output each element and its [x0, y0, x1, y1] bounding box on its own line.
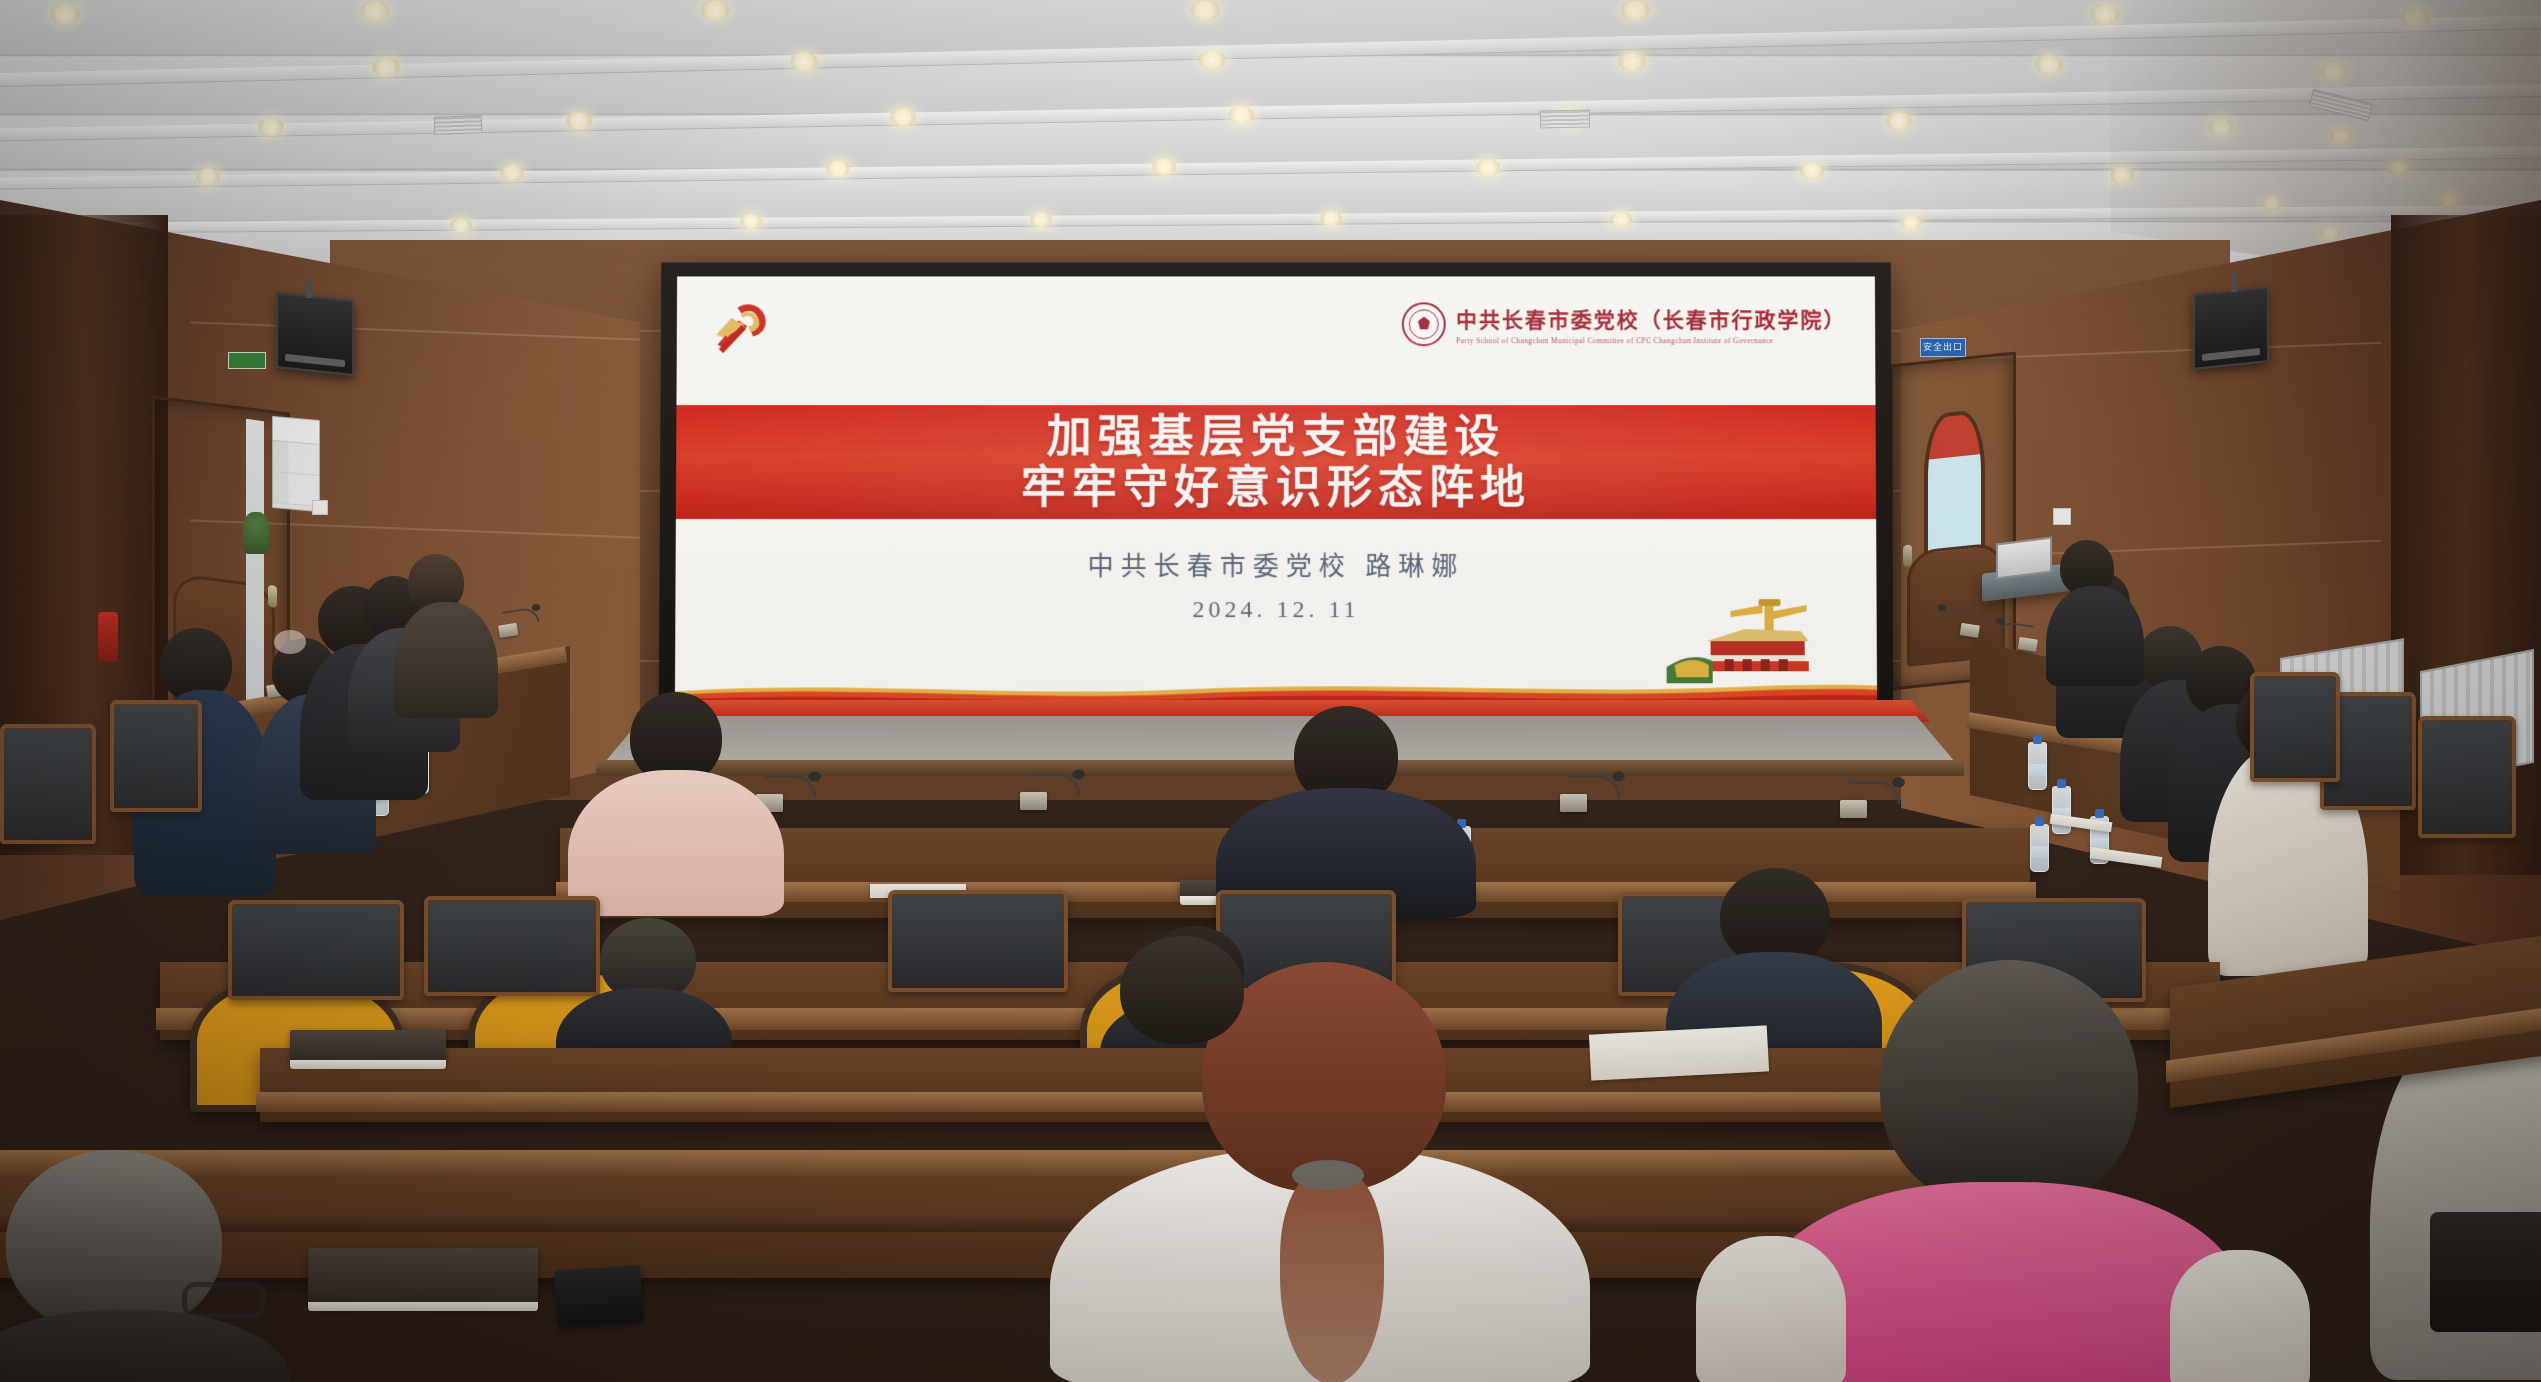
led-screen-frame: 中共长春市委党校（长春市行政学院） Party School of Changc…: [659, 263, 1893, 723]
ceiling-vent-icon: [434, 115, 483, 135]
front-attendee-suit: [1216, 706, 1476, 906]
water-bottle[interactable]: [2052, 786, 2071, 834]
slide-presenter: 中共长春市委党校 路琳娜: [676, 546, 1877, 583]
ceiling-downlight: [1030, 212, 1052, 227]
attendee-sleeve-white: [2170, 1250, 2310, 1382]
wall-switch-icon[interactable]: [312, 500, 328, 515]
presentation-slide: 中共长春市委党校（长春市行政学院） Party School of Changc…: [675, 276, 1877, 714]
ceiling-downlight: [1620, 0, 1650, 20]
slide-body: 中共长春市委党校 路琳娜 2024. 12. 11: [675, 519, 1877, 714]
attendee-head: [1120, 936, 1244, 1044]
ceiling-downlight: [196, 168, 220, 185]
ceiling-downlight: [566, 112, 592, 130]
no-smoking-notice: [272, 416, 320, 512]
slide-title-line-1: 加强基层党支部建设: [1047, 411, 1506, 462]
conference-hall-scene: 安全出口: [0, 0, 2541, 1382]
wall-speaker-right: [2193, 286, 2269, 370]
ceiling-downlight: [1152, 158, 1176, 175]
water-bottle[interactable]: [2030, 824, 2049, 872]
ceiling-downlight: [1900, 215, 1922, 230]
ceiling-downlight: [1886, 112, 1912, 130]
ceiling-downlight: [372, 58, 400, 77]
ceiling-downlight: [1198, 50, 1226, 69]
tiananmen-gate-icon: [1666, 597, 1817, 683]
chair[interactable]: [0, 724, 96, 844]
foreground-attendee-left: [0, 1150, 290, 1382]
institution-name-cn: 中共长春市委党校（长春市行政学院）: [1456, 304, 1847, 334]
front-attendee-pink: [568, 692, 784, 908]
attendee-body: [394, 602, 498, 718]
ceiling-downlight: [258, 118, 284, 136]
slide-title-band: 加强基层党支部建设 牢牢守好意识形态阵地: [676, 405, 1876, 519]
ponytail: [1280, 1170, 1384, 1382]
ceiling-downlight: [1190, 0, 1220, 20]
attendee-head: [1880, 960, 2138, 1210]
ceiling-downlight: [450, 218, 472, 233]
ceiling-downlight: [740, 214, 762, 229]
ceiling-downlight: [1320, 211, 1342, 226]
attendee-left-5: [398, 554, 494, 714]
attendee-sleeve-white: [1696, 1236, 1846, 1382]
slide-header: 中共长春市委党校（长春市行政学院） Party School of Changc…: [676, 276, 1875, 407]
ceiling-vent-icon: [1540, 110, 1590, 129]
fire-exit-sign-left: [228, 352, 266, 369]
attendee-right-5: [2050, 540, 2140, 680]
ceiling-downlight: [790, 52, 818, 71]
attendee-body-pink: [568, 770, 784, 916]
mid-attendee-1: [556, 918, 732, 1068]
notebook[interactable]: [290, 1030, 446, 1064]
attendee-body: [0, 1310, 290, 1382]
ceiling-downlight: [890, 108, 916, 126]
wall-speaker-left: [276, 292, 354, 376]
operator-monitor: [1996, 537, 2052, 580]
exit-sign-right: 安全出口: [1920, 338, 1966, 357]
eyeglasses-icon: [182, 1282, 266, 1318]
ceiling-downlight: [1800, 162, 1824, 179]
institution-name-en: Party School of Changchun Municipal Comm…: [1456, 336, 1847, 345]
ceiling-downlight: [2035, 55, 2063, 74]
water-bottle[interactable]: [2028, 742, 2047, 790]
school-seal-icon: [1402, 303, 1446, 347]
notebook[interactable]: [308, 1248, 538, 1306]
smartphone[interactable]: [554, 1265, 644, 1327]
ceiling-downlight: [500, 164, 524, 181]
foreground-attendee-center: [1080, 936, 1280, 1106]
ceiling-downlight: [1476, 159, 1500, 176]
speaker-mount-right: [2231, 272, 2237, 292]
chair[interactable]: [888, 890, 1068, 992]
chair[interactable]: [2250, 672, 2340, 782]
ceiling-downlight: [1228, 106, 1254, 124]
ceiling-downlight: [50, 4, 80, 24]
party-emblem-icon: [703, 292, 775, 360]
attendee-body: [2046, 586, 2144, 686]
slide-title-line-2: 牢牢守好意识形态阵地: [1021, 462, 1531, 513]
speaker-mount-left: [306, 278, 312, 298]
fire-extinguisher-icon: [98, 612, 118, 662]
wall-switch-icon[interactable]: [2053, 508, 2071, 525]
ceiling-downlight: [700, 0, 730, 20]
institution-logo: 中共长春市委党校（长春市行政学院） Party School of Changc…: [1402, 303, 1846, 347]
chair[interactable]: [228, 900, 404, 1000]
ceiling-downlight: [1618, 52, 1646, 71]
ceiling-downlight: [1610, 212, 1632, 227]
handbag-icon: [2430, 1212, 2541, 1332]
ceiling-downlight: [360, 1, 390, 21]
potted-plant: [243, 512, 269, 554]
ceiling-downlight: [826, 160, 850, 177]
chair[interactable]: [110, 700, 202, 812]
hair-tie: [1292, 1160, 1364, 1190]
chair[interactable]: [2418, 716, 2516, 838]
